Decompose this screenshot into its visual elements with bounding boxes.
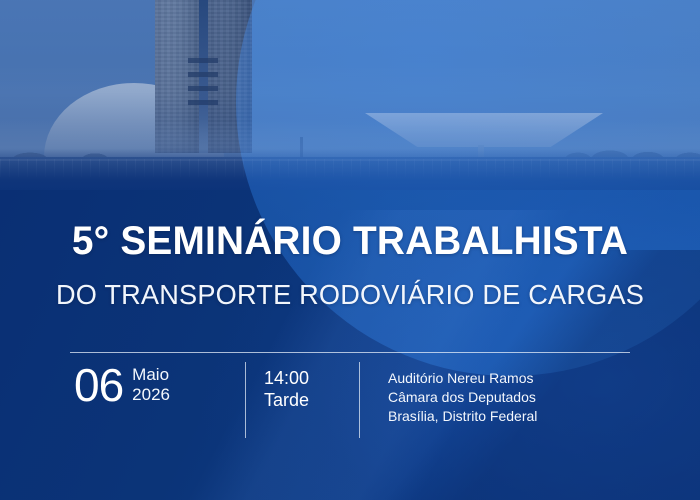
info-divider-rule — [70, 352, 630, 353]
page-subtitle: DO TRANSPORTE RODOVIÁRIO DE CARGAS — [11, 278, 690, 312]
venue-institution: Câmara dos Deputados — [388, 389, 536, 405]
event-date: 06 Maio 2026 — [70, 362, 245, 408]
event-time: 14:00 Tarde — [246, 367, 359, 411]
event-poster: 5° SEMINÁRIO TRABALHISTA DO TRANSPORTE R… — [0, 0, 700, 500]
event-info-strip: 06 Maio 2026 14:00 Tarde Auditório Nereu… — [70, 362, 630, 442]
page-title: 5° SEMINÁRIO TRABALHISTA — [11, 218, 690, 264]
event-period: Tarde — [264, 390, 309, 410]
event-month-year: Maio 2026 — [132, 365, 170, 405]
venue-auditorium: Auditório Nereu Ramos — [388, 370, 534, 386]
poster-content: 5° SEMINÁRIO TRABALHISTA DO TRANSPORTE R… — [0, 0, 700, 500]
event-year: 2026 — [132, 385, 170, 404]
event-day: 06 — [74, 362, 123, 408]
event-clock: 14:00 — [264, 368, 309, 388]
event-venue: Auditório Nereu Ramos Câmara dos Deputad… — [360, 369, 630, 426]
event-month: Maio — [132, 365, 169, 384]
venue-city: Brasília, Distrito Federal — [388, 408, 537, 424]
